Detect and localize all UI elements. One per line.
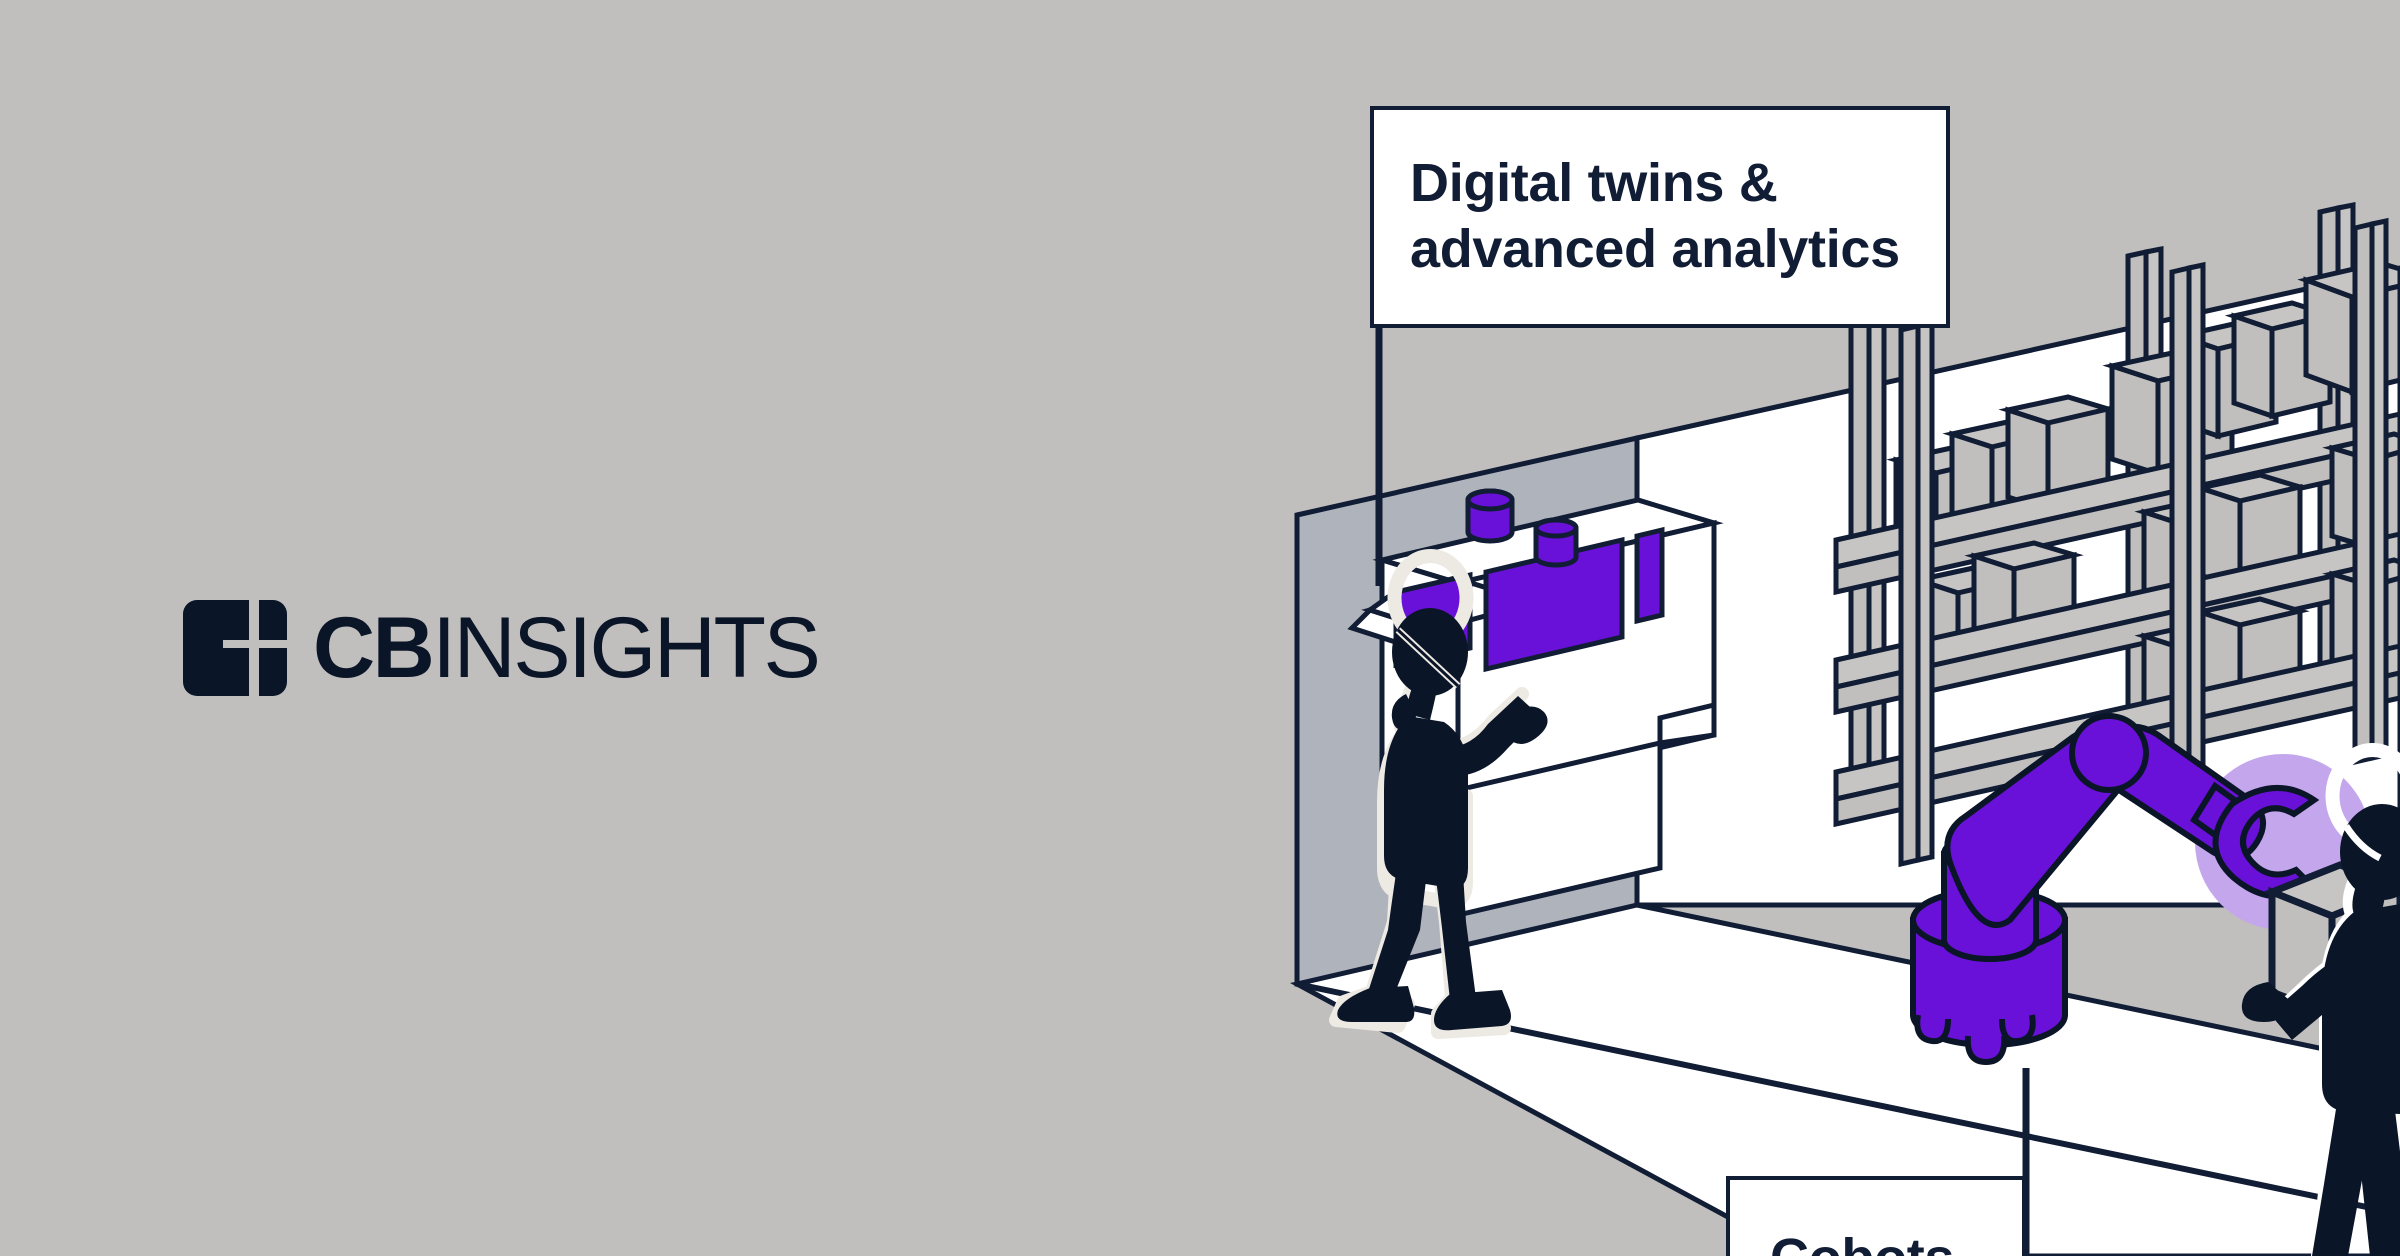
rack-upright-front	[2355, 221, 2386, 762]
callout-digital-twins-label: Digital twins & advanced analytics	[1410, 151, 1900, 283]
cobot-elbow-joint	[2072, 716, 2146, 790]
callout-digital-twins[interactable]: Digital twins & advanced analytics	[1370, 106, 1950, 328]
cb-insights-logo: CBINSIGHTS	[183, 592, 818, 704]
logo-insights-text: INSIGHTS	[432, 605, 818, 691]
console-indicator-light-1	[1468, 491, 1512, 541]
callout-cobots[interactable]: Cobots	[1726, 1176, 2026, 1256]
console-screen-3	[1637, 530, 1662, 621]
illustration-canvas: Digital twins & advanced analytics Cobot…	[0, 0, 2400, 1256]
rack-upright-front	[1901, 323, 1932, 864]
cb-insights-mark-icon	[183, 600, 287, 696]
callout-cobots-label: Cobots	[1770, 1226, 1954, 1256]
logo-cb-text: CB	[313, 605, 432, 691]
cb-insights-wordmark: CBINSIGHTS	[313, 605, 818, 691]
rack-upright-front	[2172, 265, 2203, 804]
console-indicator-light-2	[1536, 520, 1576, 565]
